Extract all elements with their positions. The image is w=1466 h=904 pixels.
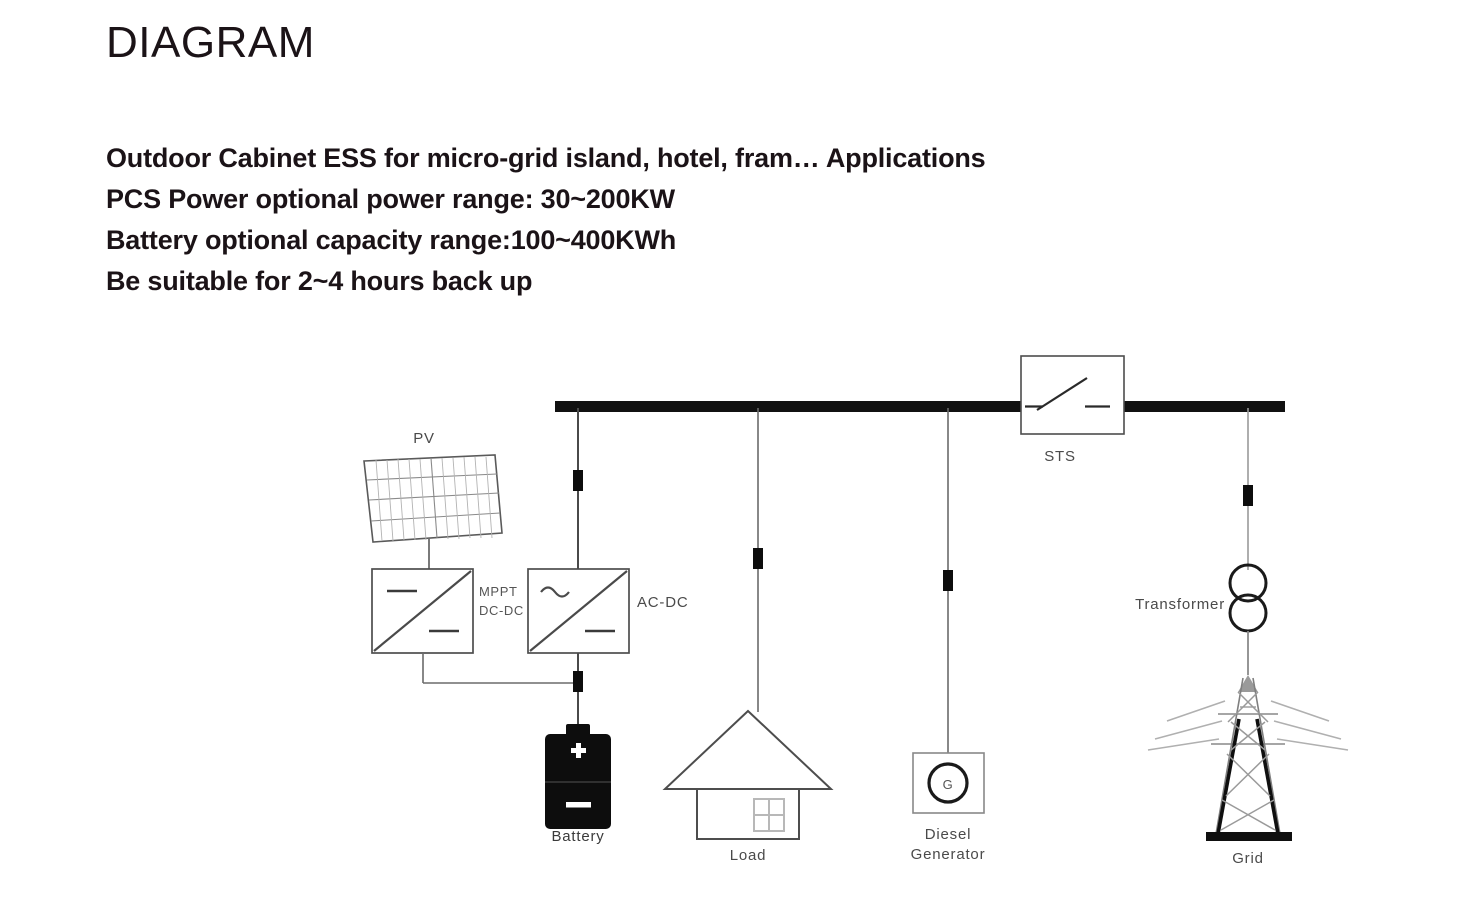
mppt-dc-dc-converter [372,569,473,653]
description-line-2: PCS Power optional power range: 30~200KW [106,179,985,220]
acdc-label: AC-DC [637,594,689,611]
battery-label: Battery [551,828,604,845]
battery-icon [545,724,611,829]
description-line-3: Battery optional capacity range:100~400K… [106,220,985,261]
description-line-1: Outdoor Cabinet ESS for micro-grid islan… [106,138,985,179]
description-block: Outdoor Cabinet ESS for micro-grid islan… [106,138,985,302]
mppt-label-line1: MPPT [479,584,518,599]
generator-symbol-label: G [943,777,954,792]
busbar-to-load-wire [753,408,763,712]
transformer-icon [1230,565,1266,631]
diesel-generator-icon: G [913,753,984,813]
diesel-label-line2: Generator [911,846,986,863]
ac-busbar [555,401,1285,412]
grid-tower-icon [1148,675,1348,841]
transformer-label: Transformer [1135,596,1225,613]
ac-dc-converter [528,569,629,653]
battery-minus-symbol [566,802,591,808]
acdc-to-battery-wire [573,653,583,728]
page-title: DIAGRAM [106,18,315,68]
sts-label: STS [1044,448,1076,465]
load-house-icon [665,711,831,839]
system-diagram: STS PV MPPT DC-DC AC-DC [0,330,1466,904]
busbar-to-generator-wire [943,408,953,753]
description-line-4: Be suitable for 2~4 hours back up [106,261,985,302]
mppt-to-dcbus-wire [423,653,578,683]
pv-array-icon [364,455,502,542]
pv-label: PV [413,430,435,447]
sts-switch[interactable] [1021,356,1124,434]
mppt-label-line2: DC-DC [479,603,524,618]
busbar-to-transformer-wire [1243,408,1253,570]
grid-label: Grid [1232,850,1264,867]
acdc-to-busbar-wire [573,408,583,569]
diesel-label-line1: Diesel [925,826,971,843]
load-label: Load [730,847,767,864]
